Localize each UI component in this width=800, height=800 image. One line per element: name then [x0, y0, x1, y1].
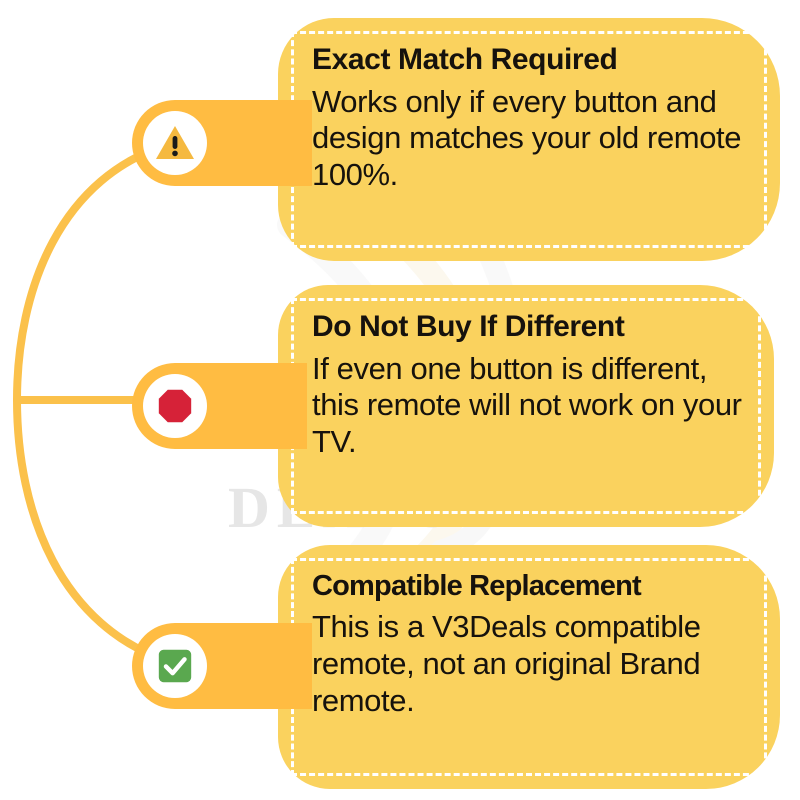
card-body: Works only if every button and design ma…	[312, 84, 750, 194]
card-exact-match-required[interactable]: Exact Match Required Works only if every…	[278, 18, 780, 261]
card-text-block: Compatible Replacement This is a V3Deals…	[278, 545, 780, 789]
card-compatible-replacement[interactable]: Compatible Replacement This is a V3Deals…	[278, 545, 780, 789]
green-check-icon	[154, 645, 196, 687]
card-body: If even one button is different, this re…	[312, 351, 744, 461]
icon-pill-exact-match-required[interactable]	[132, 100, 312, 186]
warning-triangle-icon	[154, 122, 196, 164]
icon-pill-do-not-buy-if-different[interactable]	[132, 363, 307, 449]
card-title: Do Not Buy If Different	[312, 311, 744, 343]
card-body: This is a V3Deals compatible remote, not…	[312, 609, 750, 719]
card-text-block: Exact Match Required Works only if every…	[278, 18, 780, 261]
card-do-not-buy-if-different[interactable]: Do Not Buy If Different If even one butt…	[278, 285, 774, 527]
icon-pill-compatible-replacement[interactable]	[132, 623, 312, 709]
card-text-block: Do Not Buy If Different If even one butt…	[278, 285, 774, 527]
card-title: Exact Match Required	[312, 44, 750, 76]
card-title: Compatible Replacement	[312, 571, 750, 601]
stop-octagon-icon	[154, 385, 196, 427]
infographic-canvas: DEALS Exact Match Required Works only if…	[0, 0, 800, 800]
